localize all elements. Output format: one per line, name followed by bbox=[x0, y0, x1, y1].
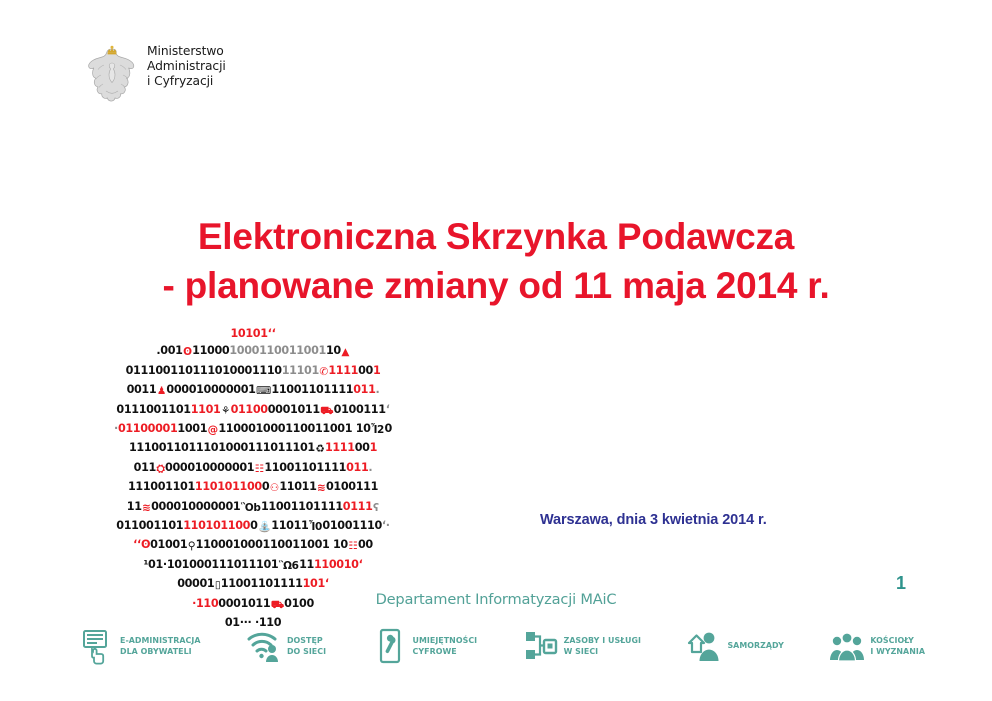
network-resources-icon bbox=[524, 627, 558, 665]
binary-art-row: 10101‘‘ bbox=[103, 325, 403, 342]
ministry-line-2: Administracji bbox=[147, 59, 226, 74]
binary-art-row: 11≋000010000001Ὃb110011011110111ʕ bbox=[103, 498, 403, 517]
binary-art-row: 1110011011101000111011101♻1111001 bbox=[103, 439, 403, 458]
ministry-name: Ministerstwo Administracji i Cyfryzacji bbox=[147, 41, 226, 90]
footer-badge-label: UMIEJĘTNOŚCI CYFROWE bbox=[413, 635, 478, 658]
ministry-line-3: i Cyfryzacji bbox=[147, 74, 226, 89]
footer-badge-network-access: DOSTĘP DO SIECI bbox=[247, 622, 326, 670]
binary-art-row: ·011000011001@110001000110011001 10Ἶ20 bbox=[103, 420, 403, 439]
footer-badge-label: KOŚCIOŁY I WYZNANIA bbox=[870, 635, 925, 658]
footer-badge-local-government: SAMORZĄDY bbox=[687, 622, 783, 670]
footer-badge-label: DOSTĘP DO SIECI bbox=[287, 635, 326, 658]
polish-eagle-emblem-icon bbox=[84, 41, 140, 105]
binary-art-row: 01110011011101⚘011000001011⛟0100111‘ bbox=[103, 401, 403, 420]
binary-code-circle-graphic: 10101‘‘.001ʘ11000100011001100110▲0111001… bbox=[103, 325, 403, 585]
slide-title: Elektroniczna Skrzynka Podawcza - planow… bbox=[0, 213, 992, 311]
binary-art-row: .001ʘ11000100011001100110▲ bbox=[103, 342, 403, 361]
local-government-icon bbox=[687, 627, 721, 665]
slide-title-line-2: - planowane zmiany od 11 maja 2014 r. bbox=[0, 262, 992, 311]
footer-badge-e-administration: E-ADMINISTRACJA DLA OBYWATELI bbox=[80, 622, 200, 670]
binary-art-row: 0011♟000010000001⌨11001101111011. bbox=[103, 381, 403, 400]
digital-skills-icon bbox=[373, 627, 407, 665]
binary-art-row: ¹01·101000111011101Ὣ611110010‘ bbox=[103, 556, 403, 575]
churches-icon bbox=[830, 627, 864, 665]
binary-art-row: ‘‘ʘ01001⚲110001000110011001 10☷00 bbox=[103, 536, 403, 555]
footer-badge-churches: KOŚCIOŁY I WYZNANIA bbox=[830, 622, 925, 670]
ministry-logo: Ministerstwo Administracji i Cyfryzacji bbox=[84, 41, 226, 105]
wifi-access-icon bbox=[247, 627, 281, 665]
footer-badge-digital-skills: UMIEJĘTNOŚCI CYFROWE bbox=[373, 622, 478, 670]
place-date-text: Warszawa, dnia 3 kwietnia 2014 r. bbox=[540, 512, 767, 528]
footer-badge-label: E-ADMINISTRACJA DLA OBYWATELI bbox=[120, 635, 200, 658]
binary-art-row: 0110011011101011000⛲11011Ἶ001001110‘· bbox=[103, 517, 403, 536]
footer-badge-label: SAMORZĄDY bbox=[727, 640, 783, 651]
footer-badge-network-resources: ZASOBY I USŁUGI W SIECI bbox=[524, 622, 641, 670]
binary-art-row: 011⛭000010000001☷11001101111011. bbox=[103, 459, 403, 478]
ministry-line-1: Ministerstwo bbox=[147, 44, 226, 59]
e-administration-icon bbox=[80, 627, 114, 665]
footer-badge-label: ZASOBY I USŁUGI W SIECI bbox=[564, 635, 641, 658]
footer-badge-strip: E-ADMINISTRACJA DLA OBYWATELI DOSTĘP DO … bbox=[80, 618, 925, 674]
binary-art-row: 1110011011101011000⚇11011≋0100111 bbox=[103, 478, 403, 497]
slide-title-line-1: Elektroniczna Skrzynka Podawcza bbox=[0, 213, 992, 262]
department-text: Departament Informatyzacji MAiC bbox=[0, 591, 992, 608]
binary-art-row: 01110011011101000111011101✆1111001 bbox=[103, 362, 403, 381]
